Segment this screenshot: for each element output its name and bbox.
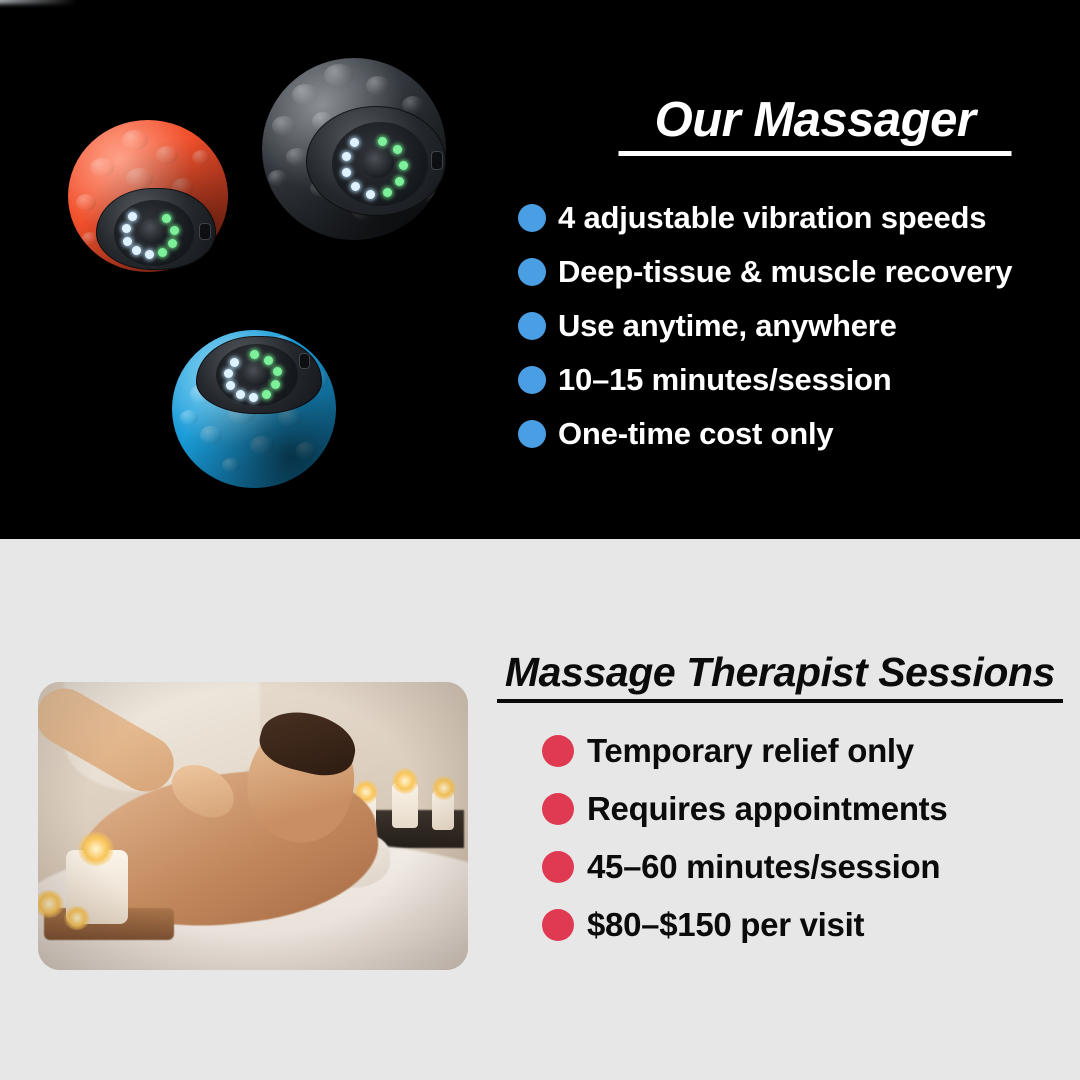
drawback-label: $80–$150 per visit — [587, 906, 864, 944]
drawback-label: 45–60 minutes/session — [587, 848, 940, 886]
massage-therapist-drawbacks-list: Temporary relief only Requires appointme… — [542, 722, 1080, 954]
list-item: 45–60 minutes/session — [542, 838, 1080, 896]
massage-therapist-copy: Massage Therapist Sessions Temporary rel… — [470, 539, 1080, 1080]
blue-dot-bullet-icon — [518, 312, 546, 340]
massage-ball-red — [68, 120, 228, 272]
benefit-label: 10–15 minutes/session — [558, 362, 892, 398]
our-massager-benefits-list: 4 adjustable vibration speeds Deep-tissu… — [518, 191, 1080, 461]
ball-red-control-cap — [96, 188, 216, 270]
our-massager-title-text: Our Massager — [655, 93, 976, 147]
title-underline-rule — [497, 699, 1063, 703]
benefit-label: One-time cost only — [558, 416, 833, 452]
list-item: Requires appointments — [542, 780, 1080, 838]
drawback-label: Requires appointments — [587, 790, 947, 828]
red-dot-bullet-icon — [542, 793, 574, 825]
list-item: 4 adjustable vibration speeds — [518, 191, 1080, 245]
blue-dot-bullet-icon — [518, 258, 546, 286]
list-item: Temporary relief only — [542, 722, 1080, 780]
massage-ball-black — [262, 58, 446, 240]
massage-therapist-title-text: Massage Therapist Sessions — [505, 649, 1055, 695]
blue-dot-bullet-icon — [518, 204, 546, 232]
red-dot-bullet-icon — [542, 851, 574, 883]
title-underline-rule — [619, 151, 1012, 156]
red-dot-bullet-icon — [542, 909, 574, 941]
list-item: 10–15 minutes/session — [518, 353, 1080, 407]
ball-blue-control-cap — [196, 336, 322, 414]
massage-therapist-section: Massage Therapist Sessions Temporary rel… — [0, 539, 1080, 1080]
blue-dot-bullet-icon — [518, 366, 546, 394]
massage-ball-product-image — [0, 0, 500, 539]
spa-massage-photo — [38, 682, 468, 970]
massage-therapist-title: Massage Therapist Sessions — [480, 649, 1080, 696]
red-dot-bullet-icon — [542, 735, 574, 767]
massage-ball-blue — [172, 330, 336, 488]
our-massager-copy: Our Massager 4 adjustable vibration spee… — [500, 0, 1080, 539]
benefit-label: Deep-tissue & muscle recovery — [558, 254, 1012, 290]
blue-dot-bullet-icon — [518, 420, 546, 448]
ball-black-control-cap — [306, 106, 446, 216]
benefit-label: 4 adjustable vibration speeds — [558, 200, 986, 236]
list-item: One-time cost only — [518, 407, 1080, 461]
list-item: Use anytime, anywhere — [518, 299, 1080, 353]
benefit-label: Use anytime, anywhere — [558, 308, 897, 344]
infographic-canvas: Our Massager 4 adjustable vibration spee… — [0, 0, 1080, 1080]
our-massager-title: Our Massager — [550, 92, 1080, 148]
list-item: $80–$150 per visit — [542, 896, 1080, 954]
our-massager-section: Our Massager 4 adjustable vibration spee… — [0, 0, 1080, 539]
photo-vignette — [38, 682, 468, 970]
list-item: Deep-tissue & muscle recovery — [518, 245, 1080, 299]
drawback-label: Temporary relief only — [587, 732, 914, 770]
